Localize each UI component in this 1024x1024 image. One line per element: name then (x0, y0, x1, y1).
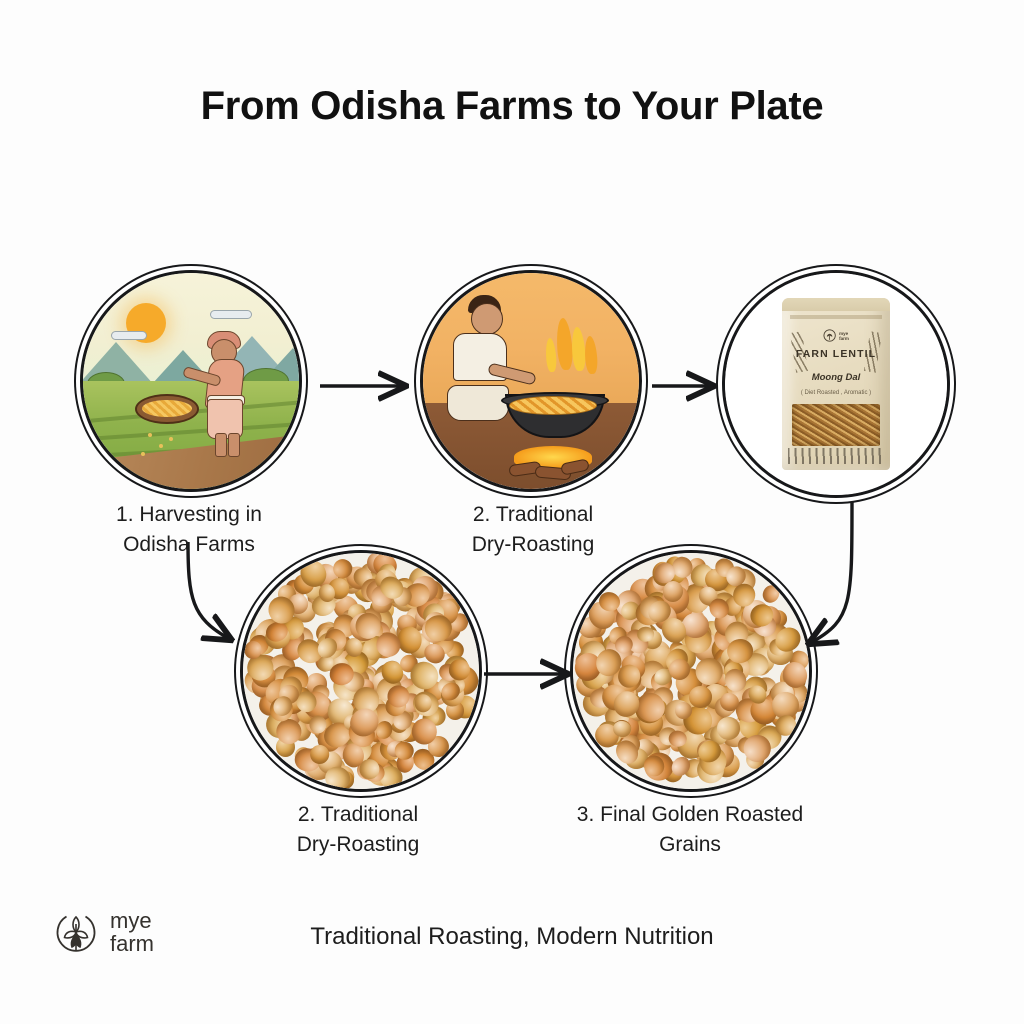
grain-pile (142, 400, 192, 417)
step-caption-1-line1: 1. Harvesting in (56, 500, 322, 530)
leg (215, 433, 227, 457)
roasted-grain (689, 685, 713, 707)
pouch-transparent-window (792, 404, 880, 446)
step-caption-4: 2. Traditional Dry-Roasting (225, 800, 491, 860)
leg (228, 433, 240, 457)
pouch-brand-mark-text: mye farm (839, 331, 849, 341)
step-caption-4-line1: 2. Traditional (225, 800, 491, 830)
product-pouch: mye farm FARN LENTIL Moong Dal ( Diet Ro… (782, 298, 890, 470)
pouch-brand-mark: mye farm (823, 329, 849, 342)
winnowing-tray (135, 394, 199, 424)
step-circle-2-dry-roasting (420, 270, 642, 492)
step-caption-1-line2: Odisha Farms (56, 530, 322, 560)
illustration-harvesting (83, 273, 299, 489)
step-caption-5: 3. Final Golden Roasted Grains (540, 800, 840, 860)
step-caption-5-line1: 3. Final Golden Roasted (540, 800, 840, 830)
arrow-step1-to-step2 (310, 356, 420, 416)
illustration-dry-roasting (423, 273, 639, 489)
pouch-subtitle: ( Diet Roasted , Aromatic ) (782, 390, 890, 396)
roasted-grain (637, 627, 655, 642)
farmer-figure (195, 329, 269, 449)
page-title: From Odisha Farms to Your Plate (0, 84, 1024, 129)
head (471, 303, 503, 335)
leaf-sprout-icon (823, 329, 836, 342)
step-caption-1: 1. Harvesting in Odisha Farms (56, 500, 322, 560)
step-caption-2-line2: Dry-Roasting (400, 530, 666, 560)
step-caption-2-line1: 2. Traditional (400, 500, 666, 530)
arrow-step3-to-step5 (786, 492, 936, 672)
seated-legs (447, 385, 509, 421)
arrow-step2-to-step3 (648, 356, 728, 416)
infographic-canvas: From Odisha Farms to Your Plate (0, 0, 1024, 1024)
step-caption-5-line2: Grains (540, 830, 840, 860)
pouch-product-name: Moong Dal (782, 372, 890, 383)
pouch-bottom-text (788, 448, 884, 464)
pouch-top-seal (782, 298, 890, 311)
illustration-product-pouch: mye farm FARN LENTIL Moong Dal ( Diet Ro… (725, 273, 947, 495)
pouch-zipper (790, 315, 882, 319)
step-circle-5-final-grains (570, 550, 812, 792)
illustration-final-roasted-grains (573, 553, 809, 789)
arrow-step4-to-step5 (478, 646, 588, 706)
cloud-icon (210, 310, 252, 319)
step-caption-4-line2: Dry-Roasting (225, 830, 491, 860)
footer-tagline: Traditional Roasting, Modern Nutrition (0, 923, 1024, 951)
step-circle-1-harvesting (80, 270, 302, 492)
step-circle-3-packaged-product: mye farm FARN LENTIL Moong Dal ( Diet Ro… (722, 270, 950, 498)
pouch-brand-name: FARN LENTIL (782, 348, 890, 360)
step-caption-2: 2. Traditional Dry-Roasting (400, 500, 666, 560)
